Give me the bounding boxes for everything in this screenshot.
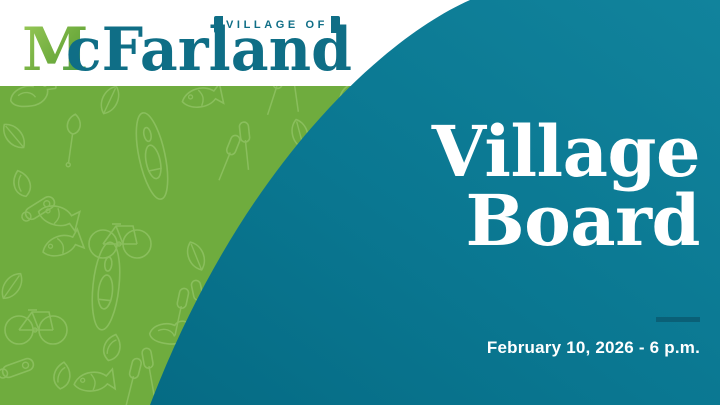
village-logo[interactable]: VILLAGE OF M cFarland — [22, 10, 352, 80]
title-line-1: Village — [260, 118, 700, 187]
slide-canvas: VILLAGE OF M cFarland Village Board Febr… — [0, 0, 720, 405]
svg-text:cFarland: cFarland — [66, 18, 352, 80]
title-divider — [656, 317, 700, 322]
page-title: Village Board — [260, 118, 700, 255]
logo-wordmark: M cFarland — [22, 18, 352, 80]
meeting-datetime: February 10, 2026 - 6 p.m. — [487, 338, 700, 358]
title-line-2: Board — [260, 187, 700, 256]
